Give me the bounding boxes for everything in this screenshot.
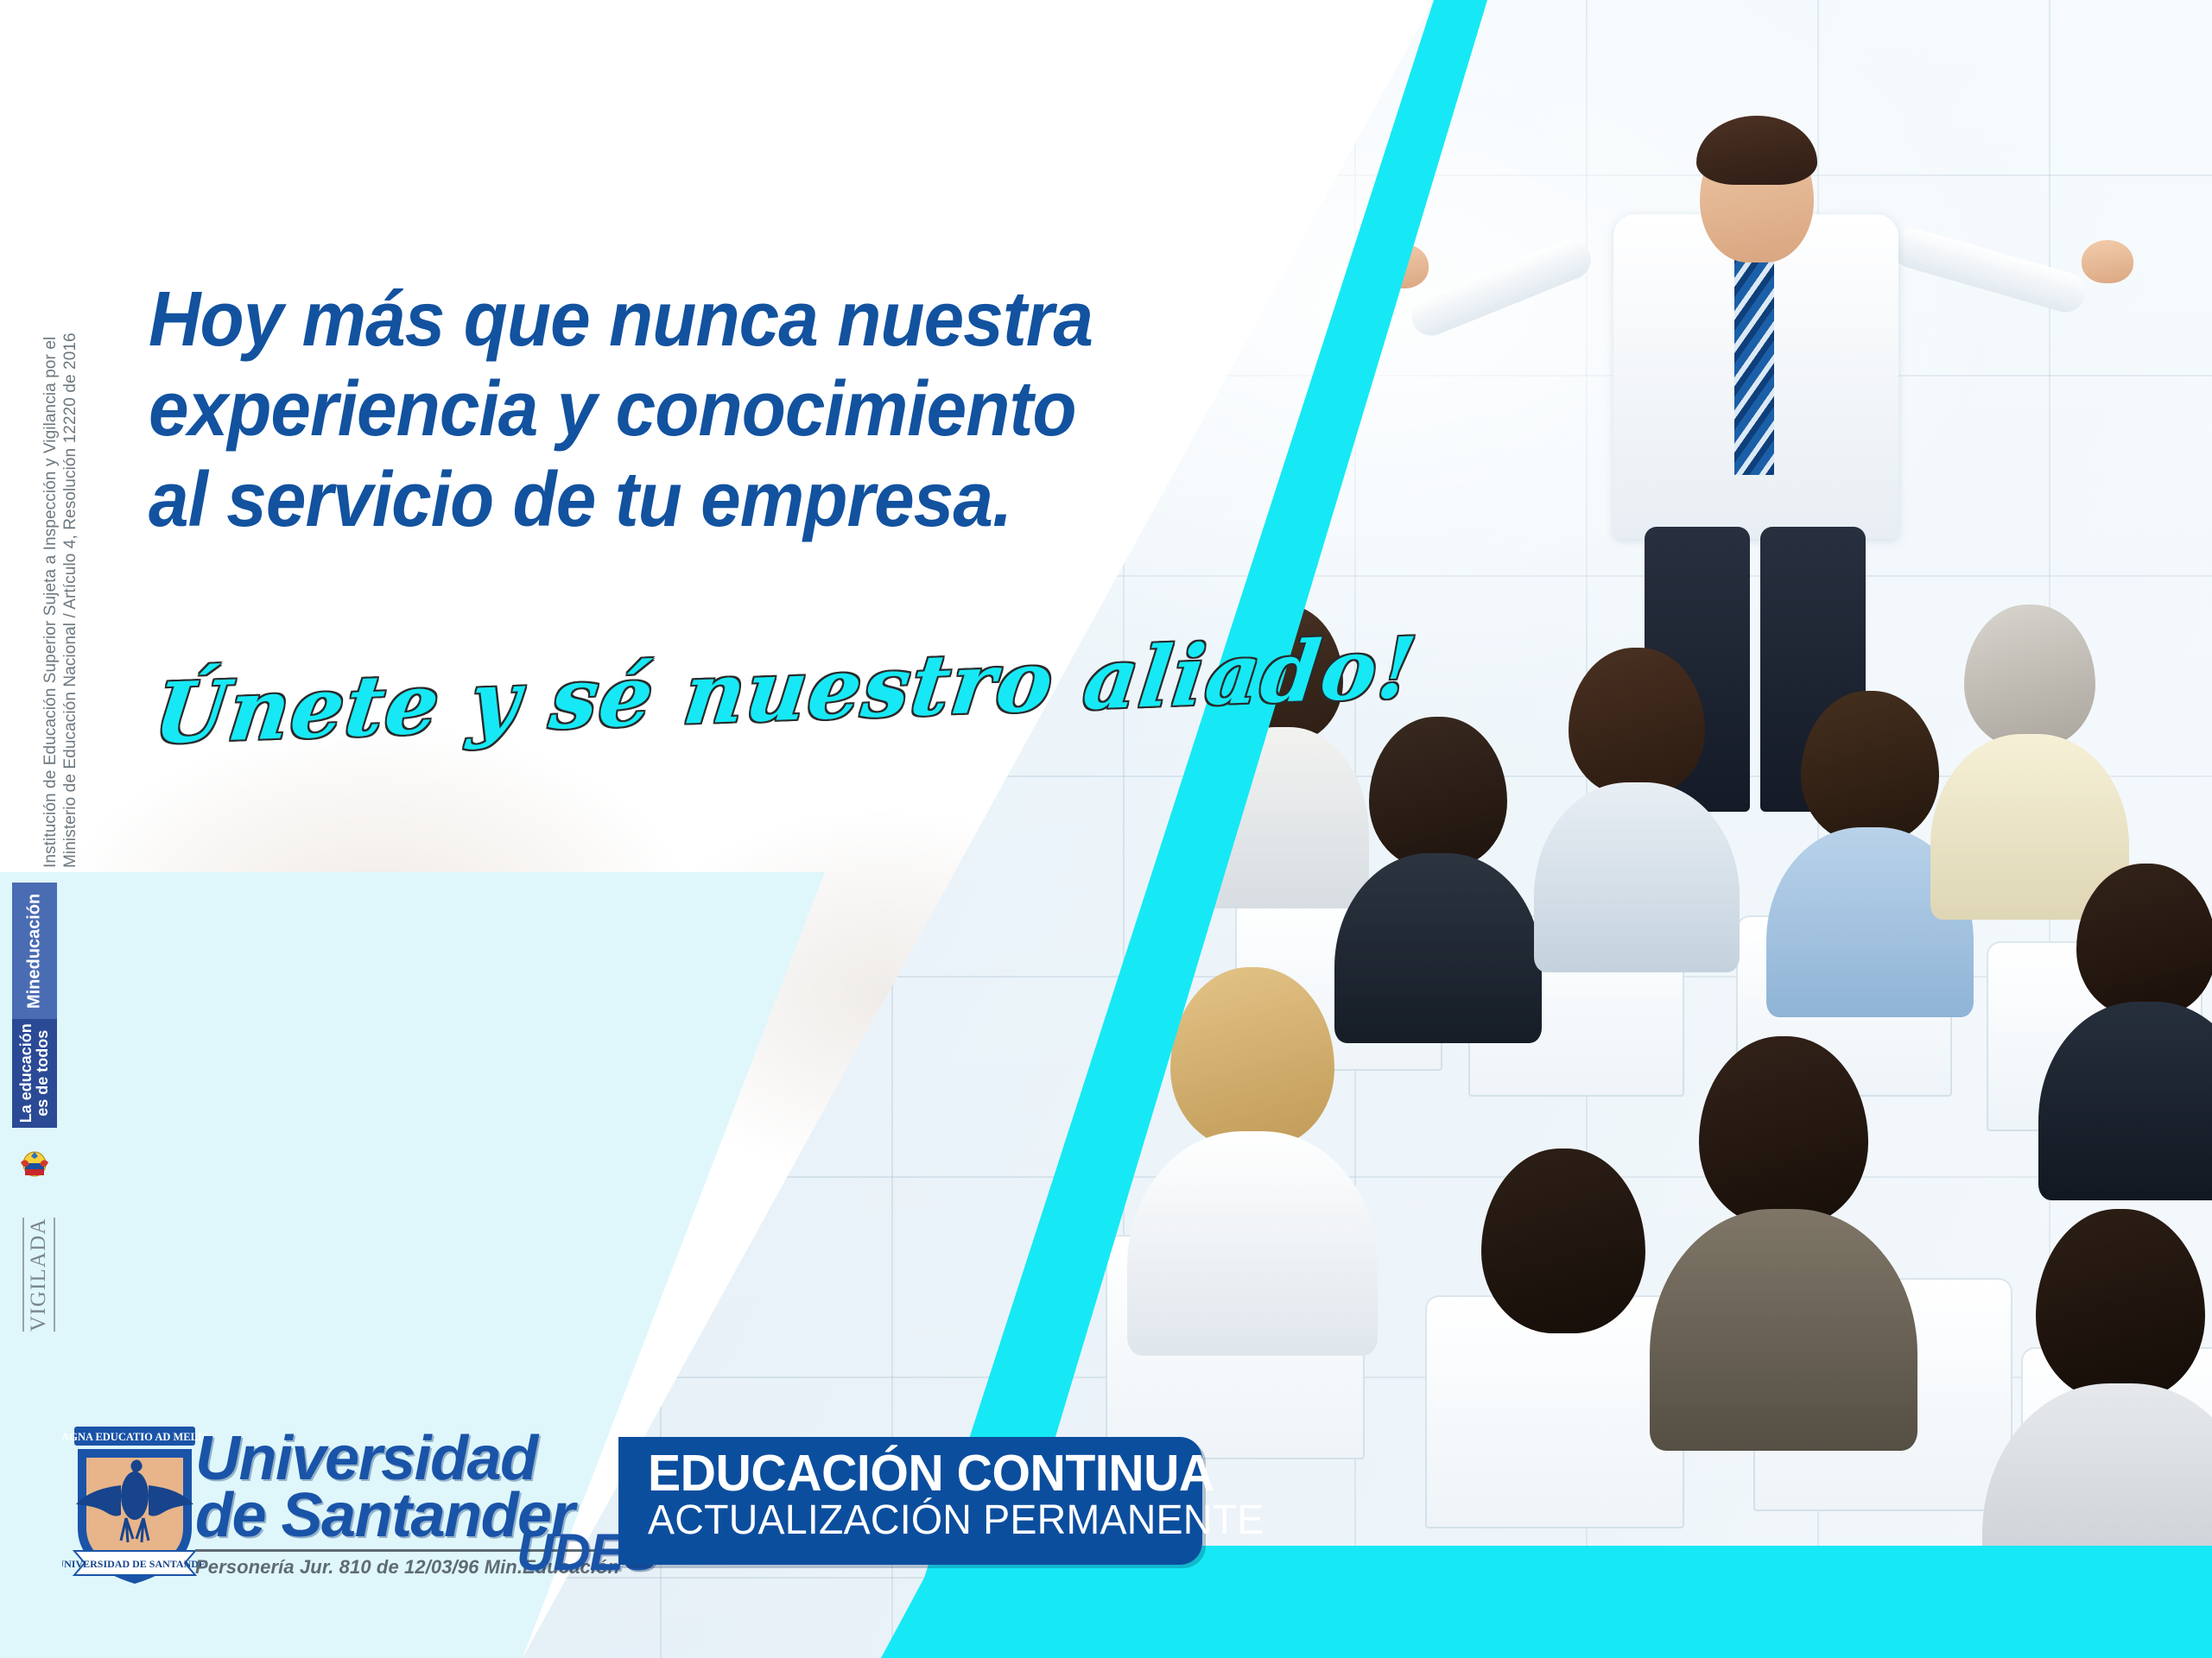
promotional-poster: Institución de Educación Superior Sujeta… [0, 0, 2212, 1658]
mineducacion-slogan-block: La educación es de todos [12, 1019, 57, 1128]
mineducacion-label-block: Mineducación [12, 883, 57, 1019]
crest-ribbon-text: UNIVERSIDAD DE SANTANDER [62, 1558, 207, 1570]
footer-lockup: MAGNA EDUCATIO AD MELIOR UNIVERSIDAD DE … [0, 1399, 2212, 1658]
vigilada-stamp: VIGILADA [14, 1192, 54, 1338]
audience-member [1943, 604, 2116, 881]
colombia-coat-of-arms-icon [17, 1150, 52, 1180]
audience-member [2056, 864, 2212, 1157]
mineducacion-slogan: La educación es de todos [18, 1023, 50, 1123]
headline-line-1: Hoy más que nunca nuestra [149, 275, 1153, 364]
audience-member [1546, 648, 1727, 933]
brand-line-1: Universidad [195, 1430, 644, 1487]
audience-member [1347, 717, 1529, 1002]
legal-text-line-2: Ministerio de Educación Nacional / Artíc… [61, 332, 80, 868]
banner-line-1: EDUCACIÓN CONTINUA [648, 1447, 1186, 1499]
legal-text-line-1: Institución de Educación Superior Sujeta… [41, 337, 60, 868]
headline-line-3: al servicio de tu empresa. [149, 455, 1153, 545]
mineducacion-badge: Mineducación La educación es de todos [12, 883, 57, 1142]
headline: Hoy más que nunca nuestra experiencia y … [149, 275, 1153, 545]
headline-line-2: experiencia y conocimiento [149, 364, 1153, 454]
mineducacion-label: Mineducación [26, 893, 44, 1008]
audience-member [1676, 1036, 1892, 1416]
crest-motto-text: MAGNA EDUCATIO AD MELIOR [62, 1431, 207, 1443]
banner-line-2: ACTUALIZACIÓN PERMANENTE [648, 1499, 1186, 1542]
vigilada-label: VIGILADA [22, 1218, 55, 1332]
educacion-continua-banner: EDUCACIÓN CONTINUA ACTUALIZACIÓN PERMANE… [618, 1437, 1202, 1565]
udes-crest-logo: MAGNA EDUCATIO AD MELIOR UNIVERSIDAD DE … [62, 1421, 207, 1591]
